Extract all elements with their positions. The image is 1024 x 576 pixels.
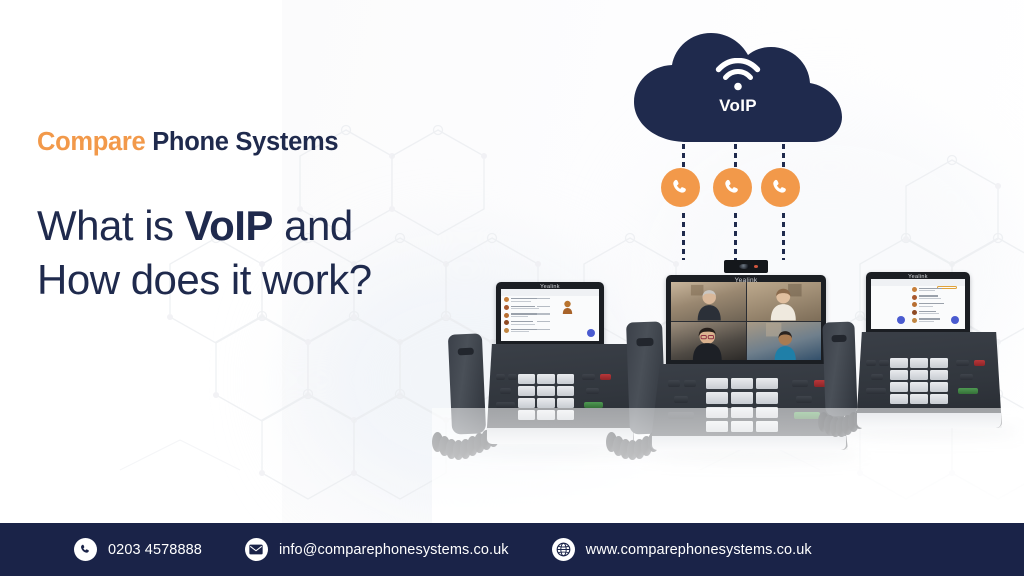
keypad-key[interactable] <box>890 358 908 368</box>
avatar <box>504 328 509 333</box>
row-primary-text <box>511 329 537 330</box>
video-conference-grid <box>671 282 821 360</box>
row-meta <box>537 298 550 299</box>
dial-fab[interactable] <box>897 316 905 324</box>
phone-icon <box>74 538 97 561</box>
headline-pre: What is <box>37 202 185 249</box>
keypad-key[interactable] <box>930 370 948 380</box>
list-item <box>504 297 596 303</box>
list-item <box>912 310 961 316</box>
avatar <box>504 305 509 310</box>
keypad-key[interactable] <box>537 386 554 396</box>
avatar <box>912 287 917 292</box>
headline-keyword: VoIP <box>185 202 273 249</box>
avatar <box>912 310 917 315</box>
contact-avatar-large <box>562 300 573 314</box>
keypad-key[interactable] <box>930 394 948 404</box>
center-phone-screen <box>671 282 821 360</box>
footer-email-label: info@comparephonesystems.co.uk <box>279 542 509 558</box>
keypad-key[interactable] <box>731 392 753 403</box>
row-primary-text <box>919 288 941 289</box>
contact-list-ui <box>501 289 599 341</box>
footer-website-item[interactable]: www.comparephonesystems.co.uk <box>552 538 812 561</box>
nav-ok-button[interactable] <box>684 380 696 387</box>
row-primary-text <box>511 306 535 307</box>
video-participant-2 <box>747 282 822 321</box>
video-participant-1 <box>671 282 746 321</box>
row-secondary-text <box>919 290 935 291</box>
cloud-label: VoIP <box>719 96 757 116</box>
speaker-button[interactable] <box>958 388 978 394</box>
transfer-button[interactable] <box>956 360 969 366</box>
keypad-key[interactable] <box>910 358 928 368</box>
row-meta <box>537 306 550 307</box>
row-primary-text <box>511 298 539 299</box>
hold-button[interactable] <box>586 388 599 394</box>
keypad-key[interactable] <box>910 394 928 404</box>
keypad-key[interactable] <box>706 378 728 389</box>
keypad-key[interactable] <box>518 374 535 384</box>
keypad-key[interactable] <box>557 374 574 384</box>
voip-endpoint-3 <box>761 168 800 207</box>
keypad-key[interactable] <box>910 370 928 380</box>
headline-line-2: How does it work? <box>37 253 467 307</box>
keypad-key[interactable] <box>930 382 948 392</box>
row-secondary-text <box>919 298 941 299</box>
participant-silhouette <box>671 322 746 361</box>
globe-glyph <box>556 542 571 557</box>
keypad-key[interactable] <box>910 382 928 392</box>
phone-glyph <box>79 543 92 556</box>
hold-button[interactable] <box>960 374 973 380</box>
page-title: What is VoIP and How does it work? <box>37 199 467 307</box>
list-item <box>912 295 961 301</box>
nav-up-button[interactable] <box>496 374 505 380</box>
contact-footer-bar: 0203 4578888 info@comparephonesystems.co… <box>0 523 1024 576</box>
transfer-button[interactable] <box>792 380 808 387</box>
participant-silhouette <box>747 282 822 321</box>
list-item <box>912 287 961 293</box>
nav-center-button[interactable] <box>500 388 511 394</box>
list-item <box>504 320 596 326</box>
phone-handset-icon <box>770 177 791 198</box>
row-primary-text <box>919 318 940 319</box>
nav-ok-button[interactable] <box>879 360 889 366</box>
phone-handset-icon <box>722 177 743 198</box>
brand-accent-word: Compare <box>37 128 145 156</box>
participant-silhouette <box>671 282 746 321</box>
video-participant-3 <box>671 322 746 361</box>
dial-fab[interactable] <box>587 329 595 337</box>
row-meta <box>537 313 550 314</box>
row-secondary-text <box>511 324 535 325</box>
end-call-button[interactable] <box>974 360 985 366</box>
avatar <box>504 313 509 318</box>
keypad-key[interactable] <box>756 378 778 389</box>
brand-logotype: Compare Phone Systems <box>37 128 338 157</box>
row-secondary-text <box>511 301 531 302</box>
globe-icon <box>552 538 575 561</box>
camera-lens <box>739 264 750 270</box>
nav-up-button[interactable] <box>866 360 876 366</box>
row-primary-text <box>511 321 533 322</box>
banner-canvas: Compare Phone Systems What is VoIP and H… <box>0 0 1024 576</box>
speaker-button[interactable] <box>584 402 603 408</box>
nav-center-button[interactable] <box>871 374 883 380</box>
desk-phone-group: Yealink <box>432 250 1024 523</box>
usb-camera <box>724 260 768 273</box>
end-call-button[interactable] <box>600 374 611 380</box>
video-participant-4 <box>747 322 822 361</box>
center-phone-screen-frame: Yealink <box>666 275 826 371</box>
keypad-key[interactable] <box>518 386 535 396</box>
keypad-key[interactable] <box>890 394 908 404</box>
screen-status-bar <box>501 289 599 296</box>
keypad-key[interactable] <box>930 358 948 368</box>
keypad-key[interactable] <box>890 370 908 380</box>
brand-rest-word: Phone Systems <box>145 128 338 156</box>
nav-up-button[interactable] <box>668 380 680 387</box>
footer-phone-item[interactable]: 0203 4578888 <box>74 538 202 561</box>
handset-earpiece <box>458 348 474 356</box>
keypad-key[interactable] <box>537 398 554 408</box>
row-secondary-text <box>919 321 934 322</box>
phone-handset-icon <box>670 177 691 198</box>
list-item <box>504 328 596 334</box>
avatar <box>504 320 509 325</box>
keypad-key[interactable] <box>518 398 535 408</box>
headline-line-1: What is VoIP and <box>37 199 467 253</box>
row-meta <box>537 329 550 330</box>
envelope-glyph <box>249 544 263 555</box>
voip-endpoint-1 <box>661 168 700 207</box>
avatar <box>912 302 917 307</box>
envelope-icon <box>245 538 268 561</box>
screen-status-bar <box>871 279 965 286</box>
left-phone-screen <box>501 289 599 341</box>
handset-earpiece <box>831 335 846 342</box>
avatar <box>504 297 509 302</box>
row-secondary-text <box>511 308 539 309</box>
keypad-key[interactable] <box>731 378 753 389</box>
nav-center-button[interactable] <box>674 396 688 403</box>
voip-endpoint-2 <box>713 168 752 207</box>
row-secondary-text <box>919 306 933 307</box>
avatar <box>912 295 917 300</box>
footer-phone-label: 0203 4578888 <box>108 542 202 558</box>
keypad-key[interactable] <box>537 374 554 384</box>
keypad-key[interactable] <box>557 386 574 396</box>
list-item <box>504 305 596 311</box>
row-secondary-text <box>511 331 529 332</box>
row-secondary-text <box>919 313 939 314</box>
footer-email-item[interactable]: info@comparephonesystems.co.uk <box>245 538 509 561</box>
hold-button[interactable] <box>796 396 812 403</box>
list-item <box>912 302 961 308</box>
voip-cloud-graphic: VoIP <box>630 28 846 143</box>
contact-list-ui <box>871 279 965 329</box>
keypad-key[interactable] <box>706 392 728 403</box>
avatar <box>912 318 917 323</box>
participant-silhouette <box>747 322 822 361</box>
row-primary-text <box>919 303 943 304</box>
right-phone-screen <box>871 279 965 329</box>
row-secondary-text <box>511 316 528 317</box>
right-phone-screen-frame: Yealink <box>866 272 970 338</box>
keypad-key[interactable] <box>756 392 778 403</box>
nav-ok-button[interactable] <box>508 374 517 380</box>
row-meta <box>537 321 550 322</box>
footer-website-label: www.comparephonesystems.co.uk <box>586 542 812 558</box>
transfer-button[interactable] <box>582 374 595 380</box>
wifi-icon <box>715 58 761 92</box>
keypad-key[interactable] <box>557 398 574 408</box>
headline-post: and <box>273 202 353 249</box>
volume-button[interactable] <box>866 388 886 394</box>
volume-button[interactable] <box>496 402 515 408</box>
camera-led <box>754 265 758 268</box>
right-phone-keypad[interactable] <box>890 358 948 404</box>
list-item <box>504 313 596 319</box>
handset-earpiece <box>636 337 653 345</box>
row-primary-text <box>919 295 938 296</box>
right-phone-handset <box>822 321 857 416</box>
row-primary-text <box>511 313 540 314</box>
floor-reflection <box>432 408 1024 523</box>
contact-list <box>504 297 596 335</box>
keypad-key[interactable] <box>890 382 908 392</box>
row-primary-text <box>919 311 936 312</box>
left-phone-screen-frame: Yealink <box>496 282 604 350</box>
